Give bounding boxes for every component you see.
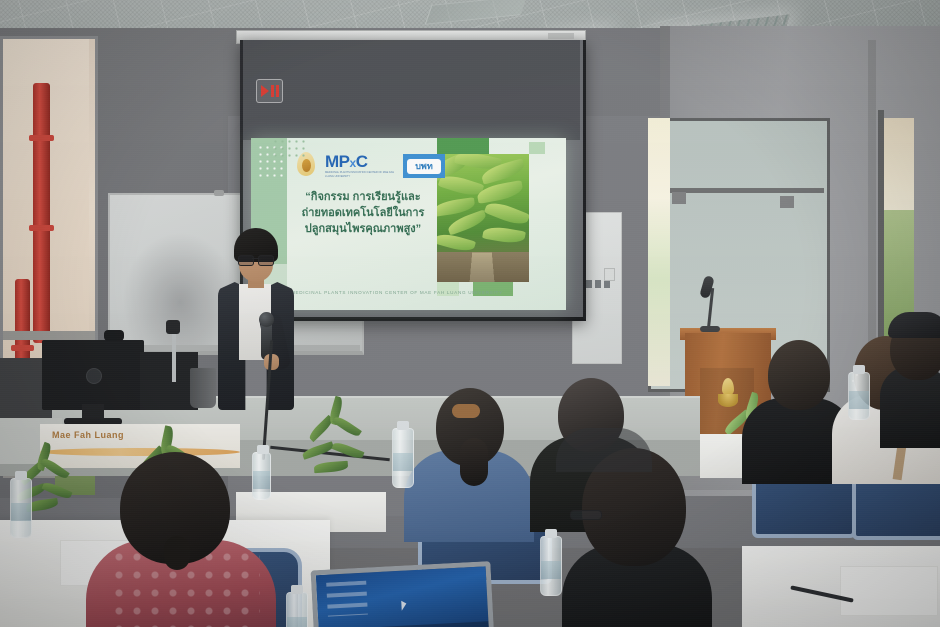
pipe-flange xyxy=(29,135,54,141)
laptop-screen[interactable] xyxy=(311,561,494,627)
glasses-icon xyxy=(238,255,274,264)
slide-title: “กิจกรรม การเรียนรู้และ ถ่ายทอดเทคโนโลยี… xyxy=(293,190,433,238)
slide-title-line-1: “กิจกรรม การเรียนรู้และ xyxy=(293,190,433,206)
mpxc-subtitle: MEDICINAL PLANTS INNOVATION CENTER OF MA… xyxy=(325,171,399,179)
pause-bar xyxy=(276,85,279,97)
rail-bracket xyxy=(780,196,794,208)
rail-bracket xyxy=(672,192,686,204)
attendee-black-cap xyxy=(880,312,940,442)
attendee-pink-floral xyxy=(86,452,276,627)
slide-accent-block-top xyxy=(437,138,489,154)
presentation-slide: MPxC MEDICINAL PLANTS INNOVATION CENTER … xyxy=(251,138,566,310)
webcam-icon xyxy=(104,330,124,341)
open-laptop[interactable] xyxy=(311,562,484,627)
wall-outlet xyxy=(604,268,615,281)
water-bottle[interactable] xyxy=(540,536,562,596)
hair-clip-icon xyxy=(452,404,480,418)
pipe-flange xyxy=(29,225,54,231)
podium-mic-base xyxy=(700,326,720,332)
greenhouse-photo xyxy=(437,154,529,282)
roller-brand-badge xyxy=(548,33,574,39)
water-bottle[interactable] xyxy=(392,428,414,488)
presenter xyxy=(212,228,298,410)
bpt-badge: บพท xyxy=(403,154,445,178)
mpxc-mp: MP xyxy=(325,152,350,171)
cap-icon xyxy=(888,312,940,338)
seminar-room-photo: MPxC MEDICINAL PLANTS INNOVATION CENTER … xyxy=(0,0,940,627)
monitor-brand-mark xyxy=(86,368,102,384)
whiteboard-clip xyxy=(214,190,224,196)
door-mullion xyxy=(3,331,95,340)
attendee-denim-blue xyxy=(404,388,534,538)
glasses-icon xyxy=(570,510,602,520)
window-light-strip xyxy=(648,118,670,386)
water-bottle-hidden xyxy=(856,374,858,376)
video-camera-icon xyxy=(166,320,180,334)
water-bottle[interactable] xyxy=(286,592,308,627)
paper-sheet xyxy=(840,566,938,616)
pause-bar xyxy=(271,85,274,97)
greenhouse-walkway xyxy=(469,252,494,282)
mpxc-wordmark: MPxC xyxy=(325,152,367,172)
slide-logo-row: MPxC MEDICINAL PLANTS INNOVATION CENTER … xyxy=(295,152,435,182)
potted-plant xyxy=(300,400,366,478)
mpxc-c: C xyxy=(356,152,368,171)
desktop-icons xyxy=(326,581,368,617)
slide-accent-block-topright xyxy=(529,142,545,154)
microphone-head xyxy=(259,312,274,327)
play-pause-icon[interactable] xyxy=(256,79,283,103)
fire-pipe-vertical xyxy=(33,83,50,343)
whiteboard-marking xyxy=(586,280,610,288)
cursor-icon xyxy=(401,601,407,611)
attendee-back-row xyxy=(556,408,652,472)
pipe-flange xyxy=(11,345,34,351)
attendee-dark-hair-right xyxy=(556,448,716,627)
camera-pole xyxy=(172,330,176,382)
slide-footer-text: MEDICINAL PLANTS INNOVATION CENTER OF MA… xyxy=(291,290,531,295)
play-triangle xyxy=(261,85,269,97)
taskbar xyxy=(319,621,489,627)
water-bottle-hidden2 xyxy=(852,380,854,382)
water-bottle[interactable] xyxy=(252,452,271,500)
attendee-ponytail xyxy=(460,438,488,486)
slide-title-line-3: ปลูกสมุนไพรคุณภาพสูง” xyxy=(293,222,433,238)
water-bottle[interactable] xyxy=(10,478,32,538)
screen-upper-dark-area xyxy=(240,40,580,140)
bpt-badge-label: บพท xyxy=(407,159,441,174)
slide-title-line-2: ถ่ายทอดเทคโนโลยีในการ xyxy=(293,206,433,222)
slide-dot-pattern-right xyxy=(272,138,306,160)
attendee-bun xyxy=(164,536,190,570)
